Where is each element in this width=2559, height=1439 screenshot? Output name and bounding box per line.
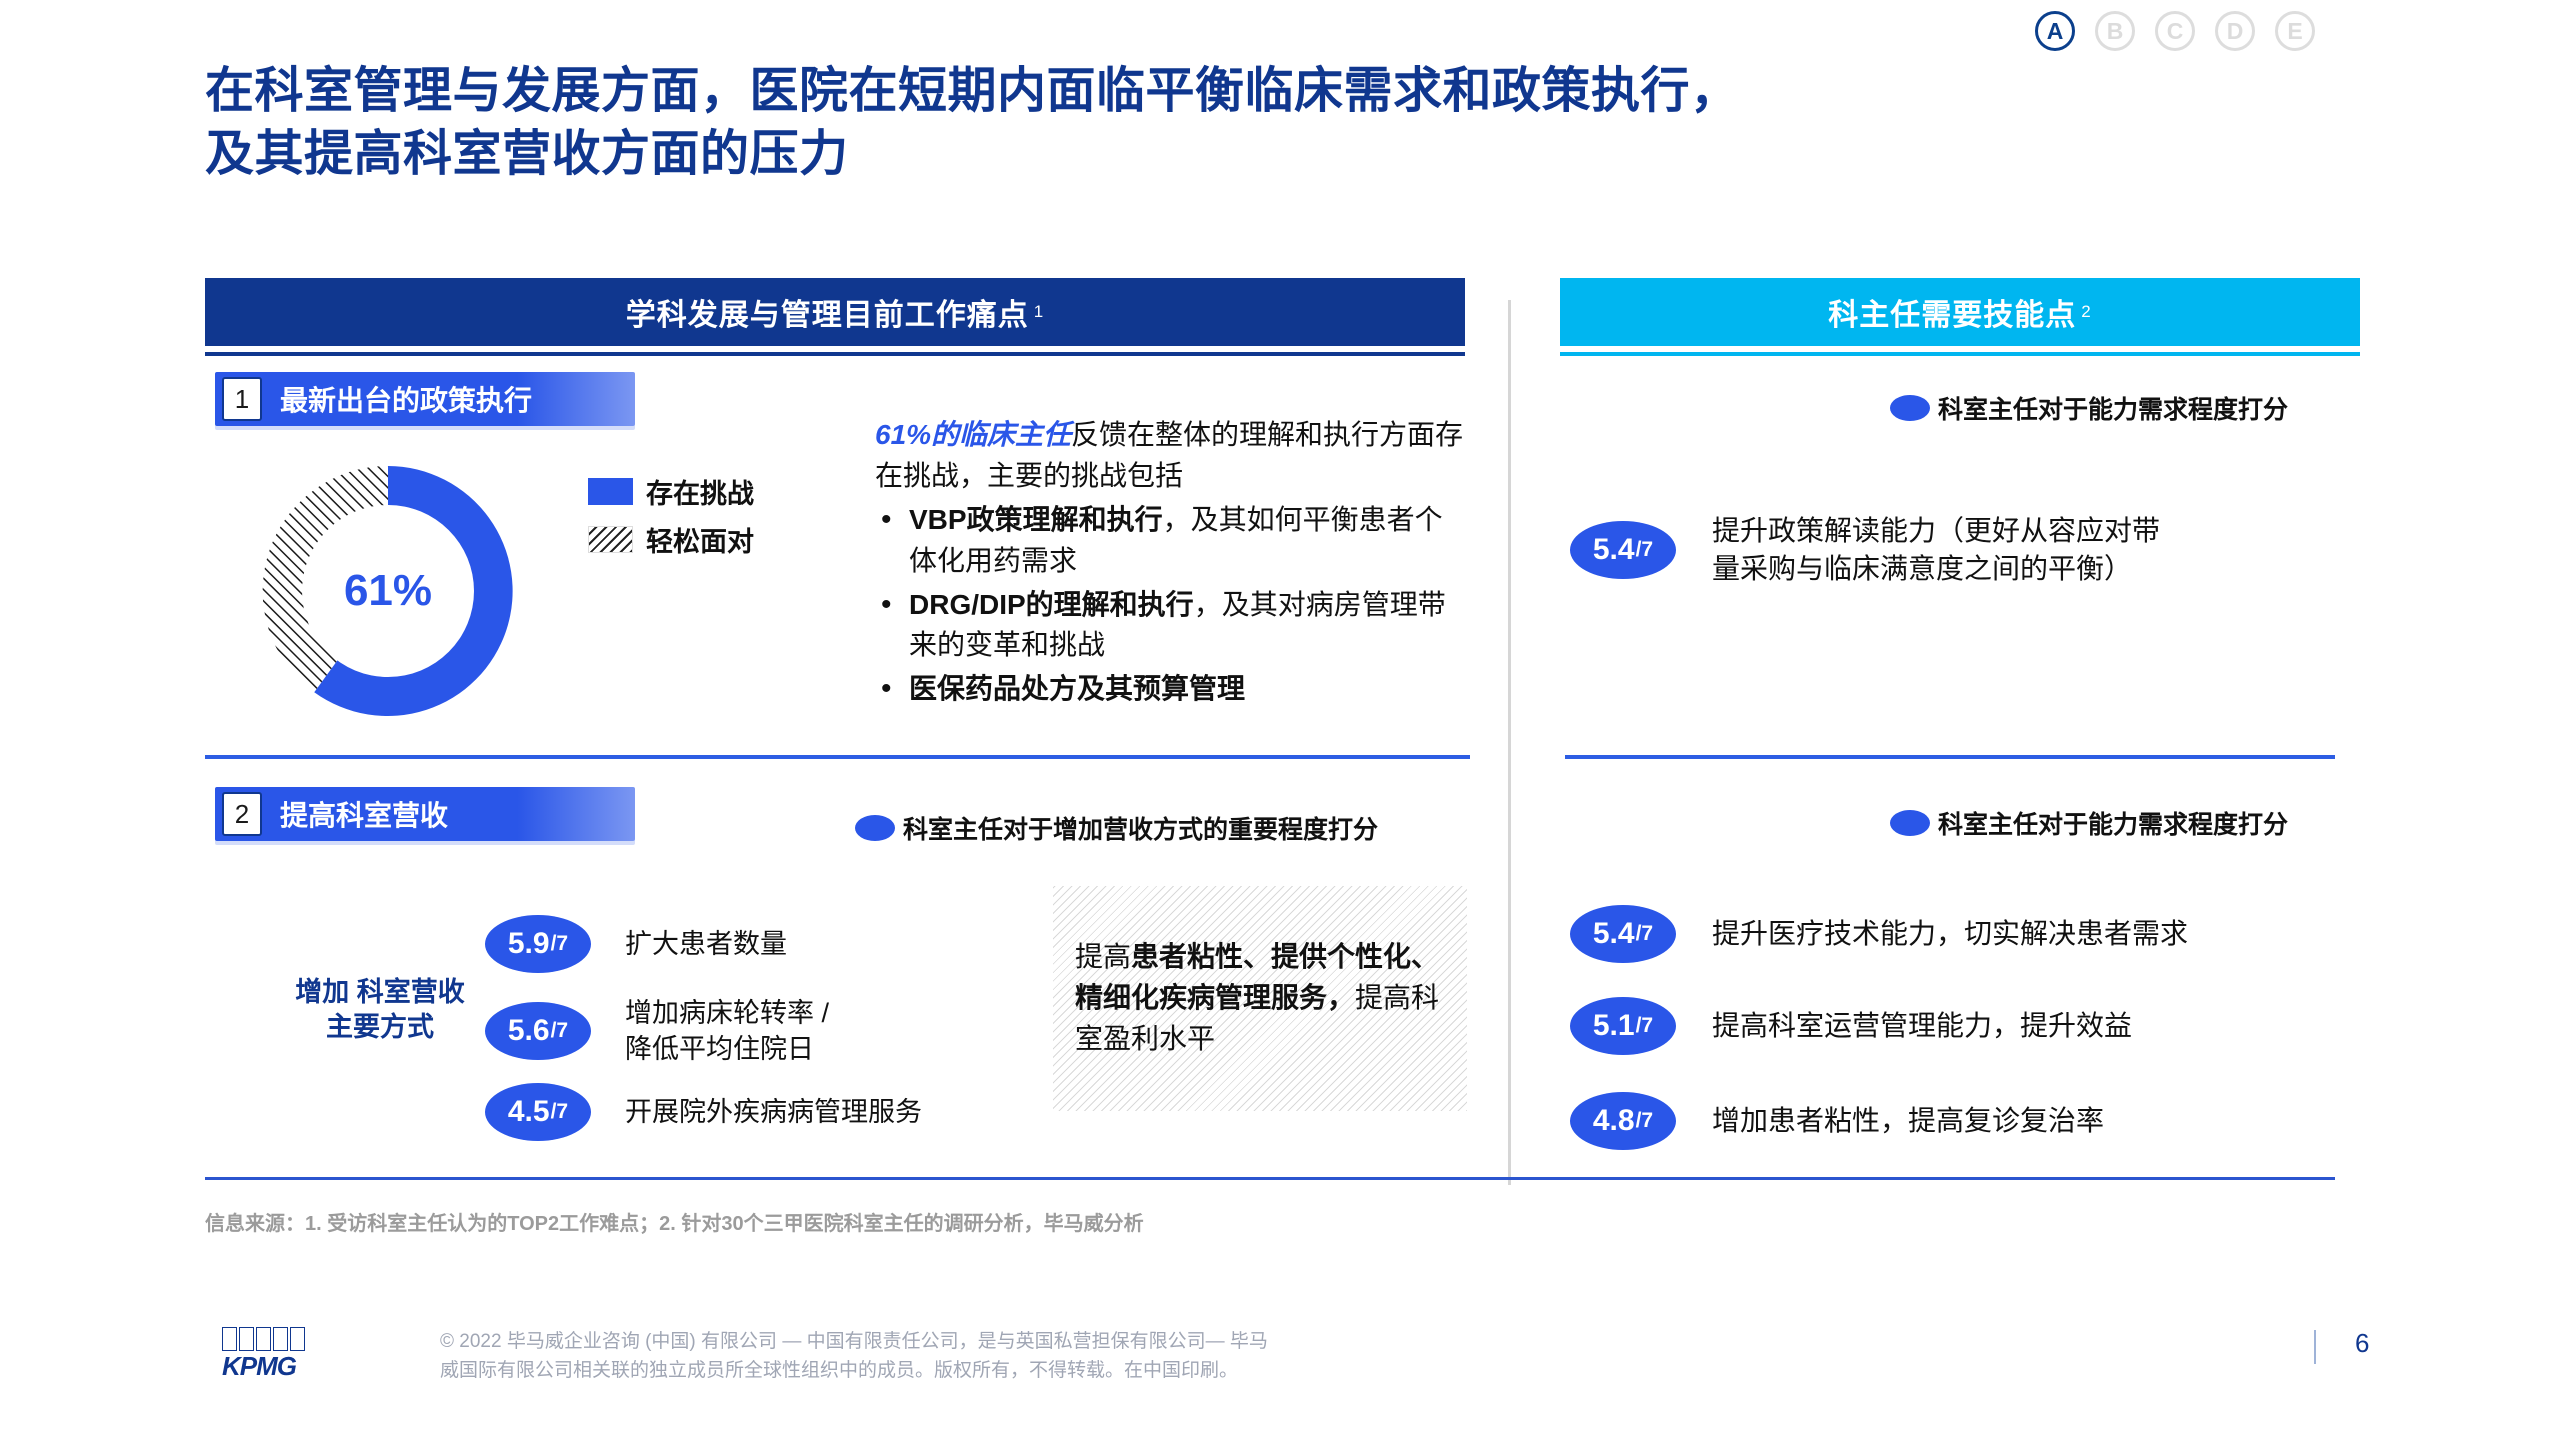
score-legend-dot-icon bbox=[1890, 810, 1930, 836]
score-legend-dot-icon bbox=[855, 815, 895, 841]
legend-swatch-solid-icon bbox=[588, 478, 633, 505]
right-panel-header: 科主任需要技能点 2 bbox=[1560, 278, 2360, 346]
score-row-label: 扩大患者数量 bbox=[625, 926, 787, 962]
right-score-legend-bottom-label: 科室主任对于能力需求程度打分 bbox=[1938, 805, 2288, 841]
score-value: 5.6 bbox=[508, 1014, 550, 1048]
score-row-label: 提高科室运营管理能力，提升效益 bbox=[1712, 1007, 2132, 1045]
left-mid-divider bbox=[205, 755, 1470, 759]
left-panel-header-footnote: 1 bbox=[1034, 302, 1044, 322]
section-2-number: 2 bbox=[222, 792, 262, 836]
score-value: 5.4 bbox=[1593, 533, 1635, 567]
page-title-line2: 及其提高科室营收方面的压力 bbox=[205, 123, 2305, 186]
section-1-paragraph: 61%的临床主任反馈在整体的理解和执行方面存在挑战，主要的挑战包括 VBP政策理… bbox=[875, 415, 1465, 710]
score-row-label: 开展院外疾病病管理服务 bbox=[625, 1094, 922, 1130]
callout-pre: 提高 bbox=[1075, 941, 1131, 972]
content-bottom-rule bbox=[205, 1177, 2335, 1180]
page-number-separator bbox=[2314, 1330, 2316, 1364]
section-1-number: 1 bbox=[222, 377, 262, 421]
donut-center-label: 61% bbox=[238, 452, 538, 730]
page-number: 6 bbox=[2355, 1328, 2369, 1359]
section-2-label: 2 提高科室营收 bbox=[215, 787, 635, 841]
score-value: 5.1 bbox=[1593, 1009, 1635, 1043]
revenue-callout-box: 提高患者粘性、提供个性化、精细化疾病管理服务，提高科室盈利水平 bbox=[1053, 886, 1467, 1111]
bullet-item: 医保药品处方及其预算管理 bbox=[875, 669, 1465, 710]
kpmg-logo-bars-icon bbox=[222, 1327, 322, 1351]
score-denominator: /7 bbox=[1636, 538, 1654, 562]
score-badge: 5.6/7 bbox=[485, 1002, 591, 1060]
nav-circle-d[interactable]: D bbox=[2215, 11, 2255, 51]
left-header-rule bbox=[205, 352, 1465, 356]
page-title: 在科室管理与发展方面，医院在短期内面临平衡临床需求和政策执行， 及其提高科室营收… bbox=[205, 60, 2305, 185]
score-legend-dot-icon bbox=[1890, 395, 1930, 421]
legend-label-easy: 轻松面对 bbox=[646, 520, 754, 559]
kpmg-logo-wordmark: KPMG bbox=[222, 1353, 322, 1379]
donut-legend: 存在挑战 轻松面对 bbox=[588, 472, 754, 568]
donut-chart: 61% bbox=[238, 452, 538, 730]
section-2-title: 提高科室营收 bbox=[280, 794, 448, 834]
bullet-bold: VBP政策理解和执行 bbox=[909, 504, 1163, 535]
section-nav[interactable]: A B C D E bbox=[2035, 11, 2315, 51]
left-panel-header: 学科发展与管理目前工作痛点 1 bbox=[205, 278, 1465, 346]
legend-item-challenge: 存在挑战 bbox=[588, 472, 754, 511]
score-denominator: /7 bbox=[551, 1100, 569, 1124]
bullet-item: VBP政策理解和执行，及其如何平衡患者个体化用药需求 bbox=[875, 500, 1465, 582]
right-score-legend-top: 科室主任对于能力需求程度打分 bbox=[1890, 390, 2288, 426]
score-badge: 5.1/7 bbox=[1570, 997, 1676, 1055]
right-panel-header-footnote: 2 bbox=[2081, 302, 2091, 322]
paragraph-highlight: 61%的临床主任 bbox=[875, 419, 1071, 450]
legend-item-easy: 轻松面对 bbox=[588, 520, 754, 559]
section-1-bullet-list: VBP政策理解和执行，及其如何平衡患者个体化用药需求 DRG/DIP的理解和执行… bbox=[875, 500, 1465, 710]
page-title-line1: 在科室管理与发展方面，医院在短期内面临平衡临床需求和政策执行， bbox=[205, 64, 1740, 118]
source-note: 信息来源：1. 受访科室主任认为的TOP2工作难点；2. 针对30个三甲医院科室… bbox=[205, 1207, 1144, 1236]
score-badge: 4.5/7 bbox=[485, 1083, 591, 1141]
legend-swatch-hatch-icon bbox=[588, 526, 633, 553]
score-row-label: 增加患者粘性，提高复诊复治率 bbox=[1712, 1102, 2104, 1140]
copyright-line2: 威国际有限公司相关联的独立成员所全球性组织中的成员。版权所有，不得转载。在中国印… bbox=[440, 1356, 1400, 1385]
section-1-label: 1 最新出台的政策执行 bbox=[215, 372, 635, 426]
bullet-bold: DRG/DIP的理解和执行 bbox=[909, 589, 1194, 620]
revenue-side-label: 增加 科室营收 主要方式 bbox=[280, 975, 480, 1045]
score-value: 4.5 bbox=[508, 1095, 550, 1129]
score-denominator: /7 bbox=[1636, 1014, 1654, 1038]
section-1-title: 最新出台的政策执行 bbox=[280, 379, 532, 419]
revenue-callout-text: 提高患者粘性、提供个性化、精细化疾病管理服务，提高科室盈利水平 bbox=[1053, 937, 1467, 1060]
right-score-legend-bottom: 科室主任对于能力需求程度打分 bbox=[1890, 805, 2288, 841]
score-row-label: 增加病床轮转率 / 降低平均住院日 bbox=[625, 995, 829, 1068]
bullet-item: DRG/DIP的理解和执行，及其对病房管理带来的变革和挑战 bbox=[875, 585, 1465, 667]
copyright-line1: © 2022 毕马威企业咨询 (中国) 有限公司 — 中国有限责任公司，是与英国… bbox=[440, 1327, 1400, 1356]
right-header-rule bbox=[1560, 352, 2360, 356]
score-row-label: 提升医疗技术能力，切实解决患者需求 bbox=[1712, 915, 2188, 953]
score-value: 5.4 bbox=[1593, 917, 1635, 951]
left-score-row-3: 4.5/7 开展院外疾病病管理服务 bbox=[485, 1083, 922, 1141]
right-mid-divider bbox=[1565, 755, 2335, 759]
nav-circle-c[interactable]: C bbox=[2155, 11, 2195, 51]
score-value: 4.8 bbox=[1593, 1104, 1635, 1138]
right-score-legend-top-label: 科室主任对于能力需求程度打分 bbox=[1938, 390, 2288, 426]
right-score-row-3: 4.8/7 增加患者粘性，提高复诊复治率 bbox=[1570, 1092, 2104, 1150]
left-score-row-2: 5.6/7 增加病床轮转率 / 降低平均住院日 bbox=[485, 995, 829, 1068]
copyright-text: © 2022 毕马威企业咨询 (中国) 有限公司 — 中国有限责任公司，是与英国… bbox=[440, 1327, 1400, 1386]
right-score-row-2: 5.1/7 提高科室运营管理能力，提升效益 bbox=[1570, 997, 2132, 1055]
score-badge: 5.4/7 bbox=[1570, 905, 1676, 963]
nav-circle-a[interactable]: A bbox=[2035, 11, 2075, 51]
score-badge: 4.8/7 bbox=[1570, 1092, 1676, 1150]
bullet-bold: 医保药品处方及其预算管理 bbox=[909, 673, 1245, 704]
legend-label-challenge: 存在挑战 bbox=[646, 472, 754, 511]
panel-separator bbox=[1508, 300, 1511, 1185]
right-panel-header-text: 科主任需要技能点 bbox=[1828, 290, 2076, 334]
left-panel-header-text: 学科发展与管理目前工作痛点 bbox=[626, 290, 1029, 334]
score-denominator: /7 bbox=[1636, 1109, 1654, 1133]
right-score-row-1: 5.4/7 提升医疗技术能力，切实解决患者需求 bbox=[1570, 905, 2188, 963]
score-badge: 5.4/7 bbox=[1570, 521, 1676, 579]
left-score-row-1: 5.9/7 扩大患者数量 bbox=[485, 915, 787, 973]
score-denominator: /7 bbox=[551, 1019, 569, 1043]
nav-circle-b[interactable]: B bbox=[2095, 11, 2135, 51]
left-score-legend-label: 科室主任对于增加营收方式的重要程度打分 bbox=[903, 810, 1378, 846]
score-denominator: /7 bbox=[1636, 922, 1654, 946]
score-denominator: /7 bbox=[551, 932, 569, 956]
left-score-legend: 科室主任对于增加营收方式的重要程度打分 bbox=[855, 810, 1378, 846]
kpmg-logo: KPMG bbox=[222, 1327, 322, 1389]
nav-circle-e[interactable]: E bbox=[2275, 11, 2315, 51]
right-score-row-top-1: 5.4/7 提升政策解读能力（更好从容应对带 量采购与临床满意度之间的平衡） bbox=[1570, 512, 2160, 588]
score-value: 5.9 bbox=[508, 927, 550, 961]
score-row-label: 提升政策解读能力（更好从容应对带 量采购与临床满意度之间的平衡） bbox=[1712, 512, 2160, 588]
score-badge: 5.9/7 bbox=[485, 915, 591, 973]
